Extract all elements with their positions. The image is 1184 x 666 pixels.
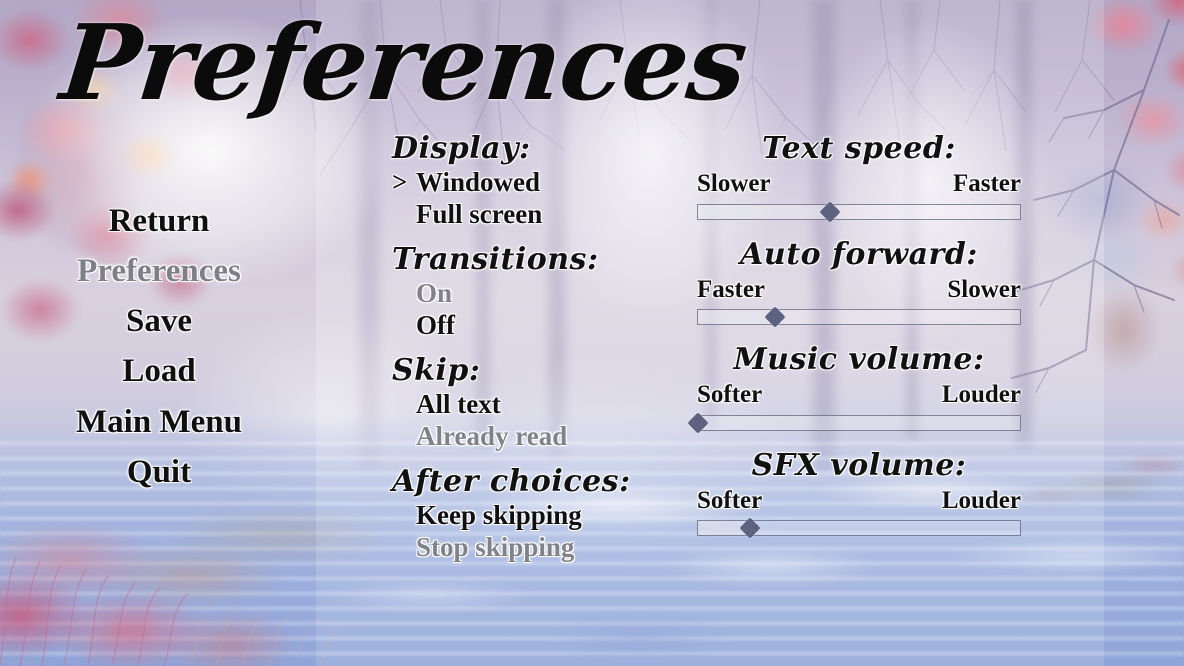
slider-fill-auto-forward bbox=[698, 310, 775, 324]
setting-group-transitions: Transitions: On Off bbox=[392, 242, 662, 341]
option-label-full-screen[interactable]: Full screen bbox=[416, 199, 542, 230]
setting-group-skip: Skip: All text Already read bbox=[392, 353, 662, 452]
nav-item-load[interactable]: Load bbox=[122, 346, 195, 396]
slider-title-sfx-volume: SFX volume: bbox=[697, 448, 1021, 484]
selection-marker-icon: > bbox=[392, 167, 416, 198]
option-label-keep-skipping[interactable]: Keep skipping bbox=[416, 500, 582, 531]
setting-group-display: Display: > Windowed Full screen bbox=[392, 131, 662, 230]
option-row-full-screen[interactable]: Full screen bbox=[392, 199, 662, 230]
option-label-transitions-on[interactable]: On bbox=[416, 278, 452, 309]
nav-item-save[interactable]: Save bbox=[126, 296, 192, 346]
nav-item-return[interactable]: Return bbox=[109, 196, 210, 246]
setting-group-after-choices: After choices: Keep skipping Stop skippi… bbox=[392, 464, 662, 563]
option-row-transitions-on[interactable]: On bbox=[392, 278, 662, 309]
slider-track-auto-forward[interactable] bbox=[697, 309, 1021, 325]
slider-right-label-text-speed: Faster bbox=[953, 169, 1021, 199]
slider-left-label-music-volume: Softer bbox=[697, 380, 762, 410]
slider-end-labels-sfx-volume: Softer Louder bbox=[697, 486, 1021, 516]
nav-item-preferences[interactable]: Preferences bbox=[77, 246, 241, 296]
slider-fill-text-speed bbox=[698, 205, 830, 219]
settings-column: Display: > Windowed Full screen Transiti… bbox=[392, 131, 662, 575]
group-title-after-choices: After choices: bbox=[392, 464, 662, 499]
nav-item-quit[interactable]: Quit bbox=[127, 447, 191, 497]
option-row-already-read[interactable]: Already read bbox=[392, 421, 662, 452]
page-title: Preferences bbox=[56, 8, 751, 117]
group-title-skip: Skip: bbox=[392, 353, 662, 388]
option-row-windowed[interactable]: > Windowed bbox=[392, 167, 662, 198]
slider-right-label-sfx-volume: Louder bbox=[942, 486, 1021, 516]
option-row-all-text[interactable]: All text bbox=[392, 389, 662, 420]
group-title-display: Display: bbox=[392, 131, 662, 166]
slider-title-auto-forward: Auto forward: bbox=[697, 237, 1021, 273]
group-title-transitions: Transitions: bbox=[392, 242, 662, 277]
slider-left-label-text-speed: Slower bbox=[697, 169, 771, 199]
slider-right-label-music-volume: Louder bbox=[942, 380, 1021, 410]
slider-end-labels-music-volume: Softer Louder bbox=[697, 380, 1021, 410]
option-row-stop-skipping[interactable]: Stop skipping bbox=[392, 532, 662, 563]
navigation-menu: Return Preferences Save Load Main Menu Q… bbox=[0, 196, 318, 497]
option-row-transitions-off[interactable]: Off bbox=[392, 310, 662, 341]
nav-item-main-menu[interactable]: Main Menu bbox=[76, 397, 242, 447]
slider-end-labels-auto-forward: Faster Slower bbox=[697, 275, 1021, 305]
slider-track-text-speed[interactable] bbox=[697, 204, 1021, 220]
slider-title-music-volume: Music volume: bbox=[697, 342, 1021, 378]
slider-right-label-auto-forward: Slower bbox=[947, 275, 1021, 305]
slider-group-auto-forward: Auto forward: Faster Slower bbox=[697, 237, 1021, 326]
option-label-all-text[interactable]: All text bbox=[416, 389, 501, 420]
slider-title-text-speed: Text speed: bbox=[697, 131, 1021, 167]
slider-track-sfx-volume[interactable] bbox=[697, 520, 1021, 536]
slider-group-music-volume: Music volume: Softer Louder bbox=[697, 342, 1021, 431]
slider-group-text-speed: Text speed: Slower Faster bbox=[697, 131, 1021, 220]
sliders-column: Text speed: Slower Faster Auto forward: … bbox=[697, 131, 1021, 553]
slider-track-music-volume[interactable] bbox=[697, 415, 1021, 431]
option-label-stop-skipping[interactable]: Stop skipping bbox=[416, 532, 574, 563]
option-label-windowed[interactable]: Windowed bbox=[416, 167, 540, 198]
option-label-transitions-off[interactable]: Off bbox=[416, 310, 455, 341]
option-row-keep-skipping[interactable]: Keep skipping bbox=[392, 500, 662, 531]
slider-left-label-sfx-volume: Softer bbox=[697, 486, 762, 516]
preferences-screen: Preferences Return Preferences Save Load… bbox=[0, 0, 1184, 666]
slider-group-sfx-volume: SFX volume: Softer Louder bbox=[697, 448, 1021, 537]
option-label-already-read[interactable]: Already read bbox=[416, 421, 567, 452]
slider-end-labels-text-speed: Slower Faster bbox=[697, 169, 1021, 199]
slider-left-label-auto-forward: Faster bbox=[697, 275, 765, 305]
